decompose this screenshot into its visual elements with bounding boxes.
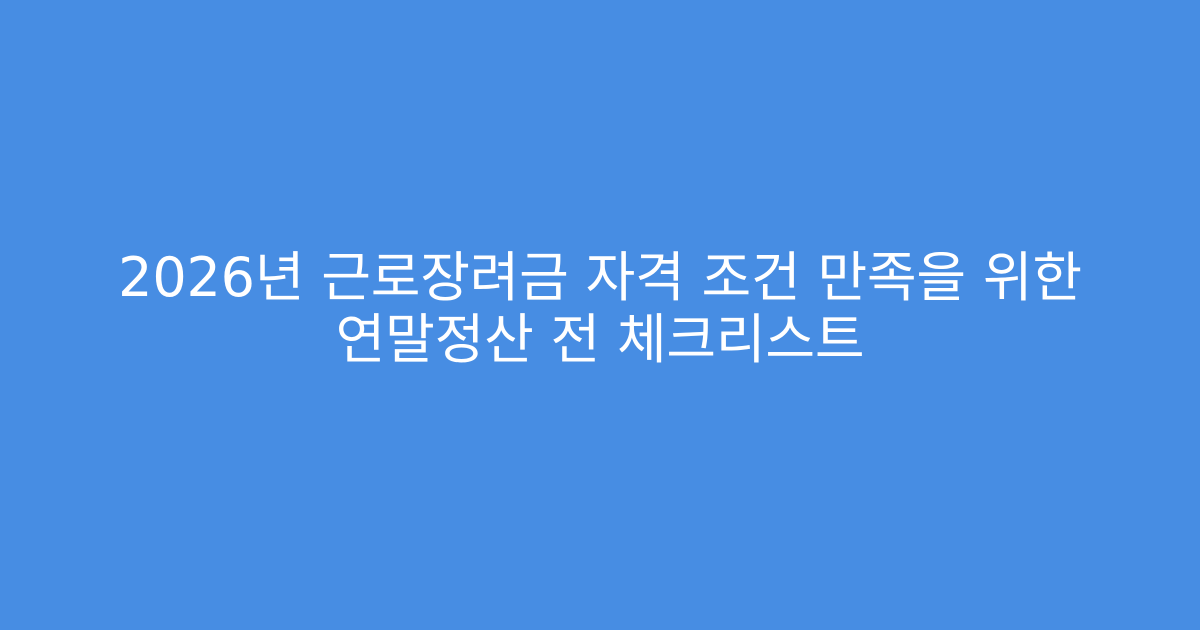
page-title-line-1: 2026년 근로장려금 자격 조건 만족을 위한 [50,247,1150,309]
page-title: 2026년 근로장려금 자격 조건 만족을 위한 연말정산 전 체크리스트 [50,247,1150,371]
social-card-banner: 2026년 근로장려금 자격 조건 만족을 위한 연말정산 전 체크리스트 [0,0,1200,630]
page-title-line-2: 연말정산 전 체크리스트 [50,309,1150,371]
